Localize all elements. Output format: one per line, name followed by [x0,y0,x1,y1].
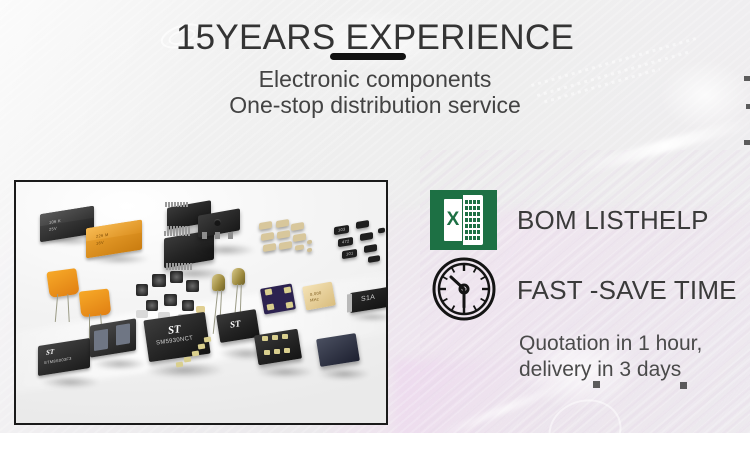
component-tantalum-yellow: 226 M 16V [86,224,148,262]
component-st-block-2 [90,322,146,368]
component-qfn-pads-ic [254,330,312,376]
clock-icon [432,257,496,321]
promo-banner: 15YEARS EXPERIENCE Electronic components… [0,0,750,458]
promise-line-1: Quotation in 1 hour, [519,331,702,357]
product-photo-panel: 106 K 25V 226 M 16V [14,180,388,425]
subtitle-line-2: One-stop distribution service [0,92,750,119]
component-st-block-1: ST STM8S003F3 [38,342,98,386]
promise-line-2: delivery in 3 days [519,357,702,383]
component-sot223-transistor [194,210,254,254]
feature-label-bom: BOM LISTHELP [517,205,709,236]
component-st-qfn-ic: ST SM5930NCT [142,314,222,376]
subtitle-line-1: Electronic components [0,66,750,93]
excel-grid-shape [465,200,480,240]
title-underline [330,53,406,60]
component-sma-diode: S1A [346,290,388,320]
excel-x-letter: X [444,199,462,241]
background-marker-3 [744,140,750,145]
component-crystal-ceramic: 8.000 MHz [304,284,340,316]
page-title: 15YEARS EXPERIENCE [0,18,750,58]
excel-file-icon: X [430,190,497,250]
component-dark-module [316,334,368,378]
promise-text: Quotation in 1 hour, delivery in 3 days [519,331,702,383]
background-marker-5 [680,382,687,389]
feature-label-fast: FAST -SAVE TIME [517,275,737,306]
component-smd-resistor-cluster: 103 472 101 [334,220,388,264]
component-smd-chip-cluster [259,220,321,260]
